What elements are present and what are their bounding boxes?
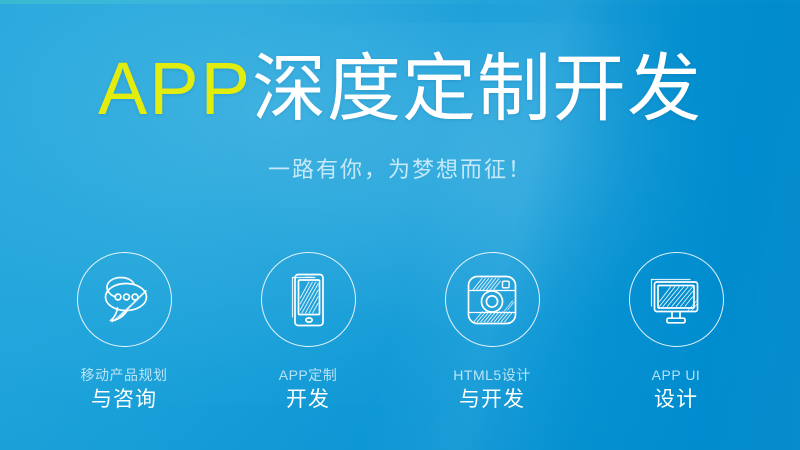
chat-bubble-icon xyxy=(93,272,155,328)
headline-rest: 深度定制开发 xyxy=(252,47,702,130)
tablet-device-icon xyxy=(279,269,337,331)
feature-item-app-ui[interactable]: APP UI 设计 xyxy=(584,252,768,412)
feature-labels: APP定制 开发 xyxy=(279,367,338,412)
feature-label-top: 移动产品规划 xyxy=(81,367,168,384)
icon-circle xyxy=(261,252,356,347)
promo-banner: APP深度定制开发 一路有你，为梦想而征！ xyxy=(0,0,800,450)
feature-label-main: 与咨询 xyxy=(81,388,168,413)
icon-circle xyxy=(77,252,172,347)
feature-labels: APP UI 设计 xyxy=(652,367,701,412)
headline-accent: APP xyxy=(98,47,252,130)
icon-circle xyxy=(445,252,540,347)
feature-item-app-development[interactable]: APP定制 开发 xyxy=(216,252,400,412)
feature-label-main: 设计 xyxy=(652,388,701,413)
feature-row: 移动产品规划 与咨询 xyxy=(0,252,800,412)
feature-item-html5[interactable]: HTML5设计 与开发 xyxy=(400,252,584,412)
feature-labels: HTML5设计 与开发 xyxy=(453,367,530,412)
desktop-monitor-icon xyxy=(644,272,708,328)
background-top-strip xyxy=(0,0,800,4)
icon-circle xyxy=(629,252,724,347)
headline-container: APP深度定制开发 xyxy=(0,52,800,126)
camera-icon xyxy=(461,270,523,330)
page-title: APP深度定制开发 xyxy=(0,52,800,126)
feature-label-main: 与开发 xyxy=(453,388,530,413)
feature-label-main: 开发 xyxy=(279,388,338,413)
feature-label-top: HTML5设计 xyxy=(453,367,530,384)
feature-labels: 移动产品规划 与咨询 xyxy=(81,367,168,412)
feature-label-top: APP定制 xyxy=(279,367,338,384)
page-subtitle: 一路有你，为梦想而征！ xyxy=(0,152,800,184)
feature-label-top: APP UI xyxy=(652,367,701,384)
feature-item-consulting[interactable]: 移动产品规划 与咨询 xyxy=(32,252,216,412)
